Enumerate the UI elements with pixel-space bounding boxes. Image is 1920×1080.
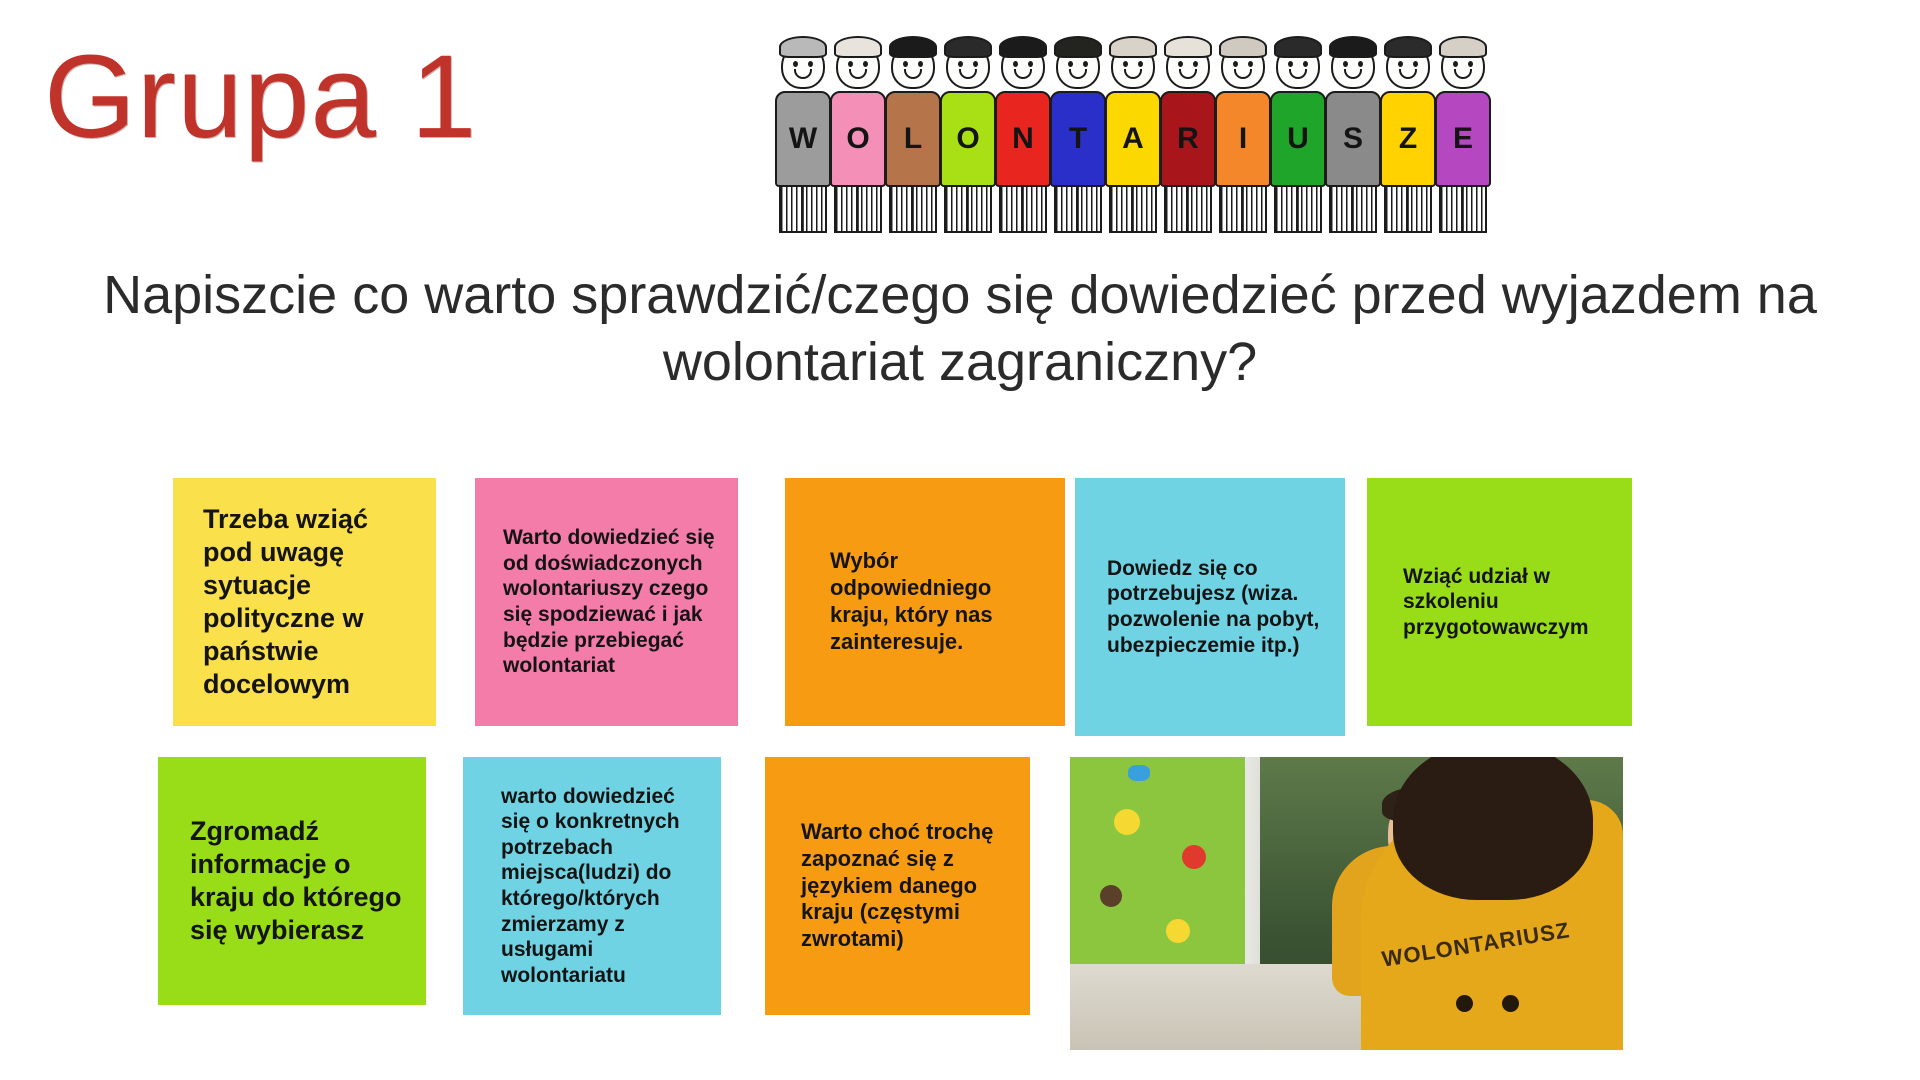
crowd-person-head (1111, 43, 1155, 89)
crowd-person: L (885, 43, 941, 233)
crowd-person-mouth (1454, 69, 1472, 79)
crowd-person-shirt-letter: T (1050, 91, 1106, 187)
crowd-person-legs (1384, 187, 1432, 233)
crowd-person-legs (1274, 187, 1322, 233)
sticky-note[interactable]: Warto dowiedzieć się od doświadczonych w… (475, 478, 738, 726)
crowd-person-eye (1453, 61, 1458, 67)
sticky-note-text: warto dowiedzieć się o konkretnych potrz… (501, 784, 703, 989)
crowd-person-shirt-letter: W (775, 91, 831, 187)
crowd-person-hair (1384, 36, 1432, 58)
crowd-person-hair (1219, 36, 1267, 58)
crowd-person-eye (903, 61, 908, 67)
photo-shirt-button (1456, 995, 1473, 1012)
sticky-note[interactable]: Trzeba wziąć pod uwagę sytuacje politycz… (173, 478, 436, 726)
crowd-person: A (1105, 43, 1161, 233)
crowd-person-head (1276, 43, 1320, 89)
crowd-person-eye (1343, 61, 1348, 67)
photo-wall-dot (1128, 765, 1150, 781)
crowd-person-shirt-letter: S (1325, 91, 1381, 187)
crowd-person-eye (1083, 61, 1088, 67)
crowd-person-eye (1178, 61, 1183, 67)
sticky-note-text: Warto choć trochę zapoznać się z językie… (801, 819, 1012, 953)
crowd-person-shirt-letter: O (940, 91, 996, 187)
crowd-person: I (1215, 43, 1271, 233)
photo-wall-dot (1114, 809, 1140, 835)
crowd-person-eye (1248, 61, 1253, 67)
crowd-person-legs (1439, 187, 1487, 233)
crowd-person: R (1160, 43, 1216, 233)
crowd-person-shirt-letter: R (1160, 91, 1216, 187)
crowd-person-eye (863, 61, 868, 67)
crowd-person-eye (1358, 61, 1363, 67)
crowd-person-head (1001, 43, 1045, 89)
crowd-person-hair (999, 36, 1047, 58)
sticky-note[interactable]: Warto choć trochę zapoznać się z językie… (765, 757, 1030, 1015)
crowd-person-head (1441, 43, 1485, 89)
crowd-person: S (1325, 43, 1381, 233)
crowd-person-hair (1439, 36, 1487, 58)
crowd-person-mouth (1399, 69, 1417, 79)
photo-wall-dot (1182, 845, 1206, 869)
crowd-person-legs (999, 187, 1047, 233)
crowd-person-hair (1164, 36, 1212, 58)
crowd-person-eye (1193, 61, 1198, 67)
crowd-person-head (1386, 43, 1430, 89)
crowd-person-eye (973, 61, 978, 67)
crowd-person-shirt-letter: I (1215, 91, 1271, 187)
crowd-person-legs (1054, 187, 1102, 233)
slide-question: Napiszcie co warto sprawdzić/czego się d… (55, 262, 1865, 396)
crowd-person-legs (779, 187, 827, 233)
sticky-note[interactable]: Wziąć udział w szkoleniu przygotowawczym (1367, 478, 1632, 726)
crowd-person-head (1221, 43, 1265, 89)
crowd-person-shirt-letter: O (830, 91, 886, 187)
crowd-person-legs (1219, 187, 1267, 233)
crowd-person-shirt-letter: N (995, 91, 1051, 187)
page-title: Grupa 1 (44, 38, 477, 156)
sticky-notes-board: Trzeba wziąć pod uwagę sytuacje politycz… (0, 470, 1920, 1050)
crowd-person-eye (1013, 61, 1018, 67)
crowd-person: W (775, 43, 831, 233)
wolontariusze-crowd-illustration: WOLONTARIUSZE (775, 6, 1525, 251)
crowd-person-eye (808, 61, 813, 67)
crowd-person: Z (1380, 43, 1436, 233)
crowd-person-eye (1068, 61, 1073, 67)
crowd-person-eye (1288, 61, 1293, 67)
crowd-person-hair (1054, 36, 1102, 58)
crowd-person-head (1166, 43, 1210, 89)
crowd-person: U (1270, 43, 1326, 233)
crowd-person: N (995, 43, 1051, 233)
crowd-person-eye (1123, 61, 1128, 67)
sticky-note[interactable]: Zgromadź informacje o kraju do którego s… (158, 757, 426, 1005)
crowd-person-mouth (1234, 69, 1252, 79)
crowd-person-shirt-letter: U (1270, 91, 1326, 187)
crowd-person-eye (1028, 61, 1033, 67)
crowd-person-hair (889, 36, 937, 58)
crowd-person-head (781, 43, 825, 89)
crowd-person-mouth (959, 69, 977, 79)
crowd-person-hair (1274, 36, 1322, 58)
presentation-slide: Grupa 1 WOLONTARIUSZE Napiszcie co warto… (0, 0, 1920, 1080)
crowd-person-mouth (1014, 69, 1032, 79)
crowd-person-mouth (1069, 69, 1087, 79)
crowd-person-mouth (1124, 69, 1142, 79)
crowd-person-head (946, 43, 990, 89)
crowd-person-eye (1398, 61, 1403, 67)
crowd-person-eye (1138, 61, 1143, 67)
sticky-note-text: Warto dowiedzieć się od doświadczonych w… (503, 525, 720, 679)
crowd-person-shirt-letter: A (1105, 91, 1161, 187)
crowd-person-hair (1109, 36, 1157, 58)
crowd-person-mouth (849, 69, 867, 79)
sticky-note-text: Dowiedz się co potrzebujesz (wiza. pozwo… (1107, 556, 1327, 658)
photo-wall-dot (1166, 919, 1190, 943)
crowd-person-hair (944, 36, 992, 58)
sticky-note-text: Wziąć udział w szkoleniu przygotowawczym (1403, 564, 1614, 641)
crowd-person-eye (918, 61, 923, 67)
crowd-person-legs (944, 187, 992, 233)
photo-shirt-button (1502, 995, 1519, 1012)
crowd-person-shirt-letter: Z (1380, 91, 1436, 187)
crowd-person-head (1056, 43, 1100, 89)
volunteers-with-children-photo: WOLONTARIUSZ (1070, 757, 1623, 1050)
crowd-person-legs (889, 187, 937, 233)
crowd-person-hair (779, 36, 827, 58)
crowd-person-shirt-letter: L (885, 91, 941, 187)
crowd-person-legs (1109, 187, 1157, 233)
crowd-person-eye (1468, 61, 1473, 67)
crowd-person-hair (834, 36, 882, 58)
crowd-person-eye (958, 61, 963, 67)
crowd-person-legs (1164, 187, 1212, 233)
crowd-person-legs (1329, 187, 1377, 233)
sticky-note-text: Trzeba wziąć pod uwagę sytuacje politycz… (203, 503, 418, 701)
crowd-person: E (1435, 43, 1491, 233)
crowd-person-mouth (1289, 69, 1307, 79)
crowd-person-mouth (1344, 69, 1362, 79)
crowd-person-head (891, 43, 935, 89)
crowd-person-eye (848, 61, 853, 67)
sticky-note-text: Zgromadź informacje o kraju do którego s… (190, 815, 408, 947)
crowd-figures: WOLONTARIUSZE (775, 6, 1525, 251)
crowd-person-eye (1233, 61, 1238, 67)
crowd-person-mouth (794, 69, 812, 79)
crowd-person-shirt-letter: E (1435, 91, 1491, 187)
crowd-person-eye (1413, 61, 1418, 67)
crowd-person-mouth (904, 69, 922, 79)
crowd-person-head (1331, 43, 1375, 89)
crowd-person-mouth (1179, 69, 1197, 79)
crowd-person-legs (834, 187, 882, 233)
crowd-person: O (830, 43, 886, 233)
sticky-note[interactable]: Wybór odpowiedniego kraju, który nas zai… (785, 478, 1065, 726)
crowd-person-eye (1303, 61, 1308, 67)
photo-woman-hair (1393, 757, 1593, 900)
crowd-person-eye (793, 61, 798, 67)
crowd-person-head (836, 43, 880, 89)
sticky-note[interactable]: Dowiedz się co potrzebujesz (wiza. pozwo… (1075, 478, 1345, 736)
photo-wall-dot (1100, 885, 1122, 907)
sticky-note-text: Wybór odpowiedniego kraju, który nas zai… (830, 548, 1047, 655)
crowd-person-hair (1329, 36, 1377, 58)
crowd-person: T (1050, 43, 1106, 233)
sticky-note[interactable]: warto dowiedzieć się o konkretnych potrz… (463, 757, 721, 1015)
crowd-person: O (940, 43, 996, 233)
